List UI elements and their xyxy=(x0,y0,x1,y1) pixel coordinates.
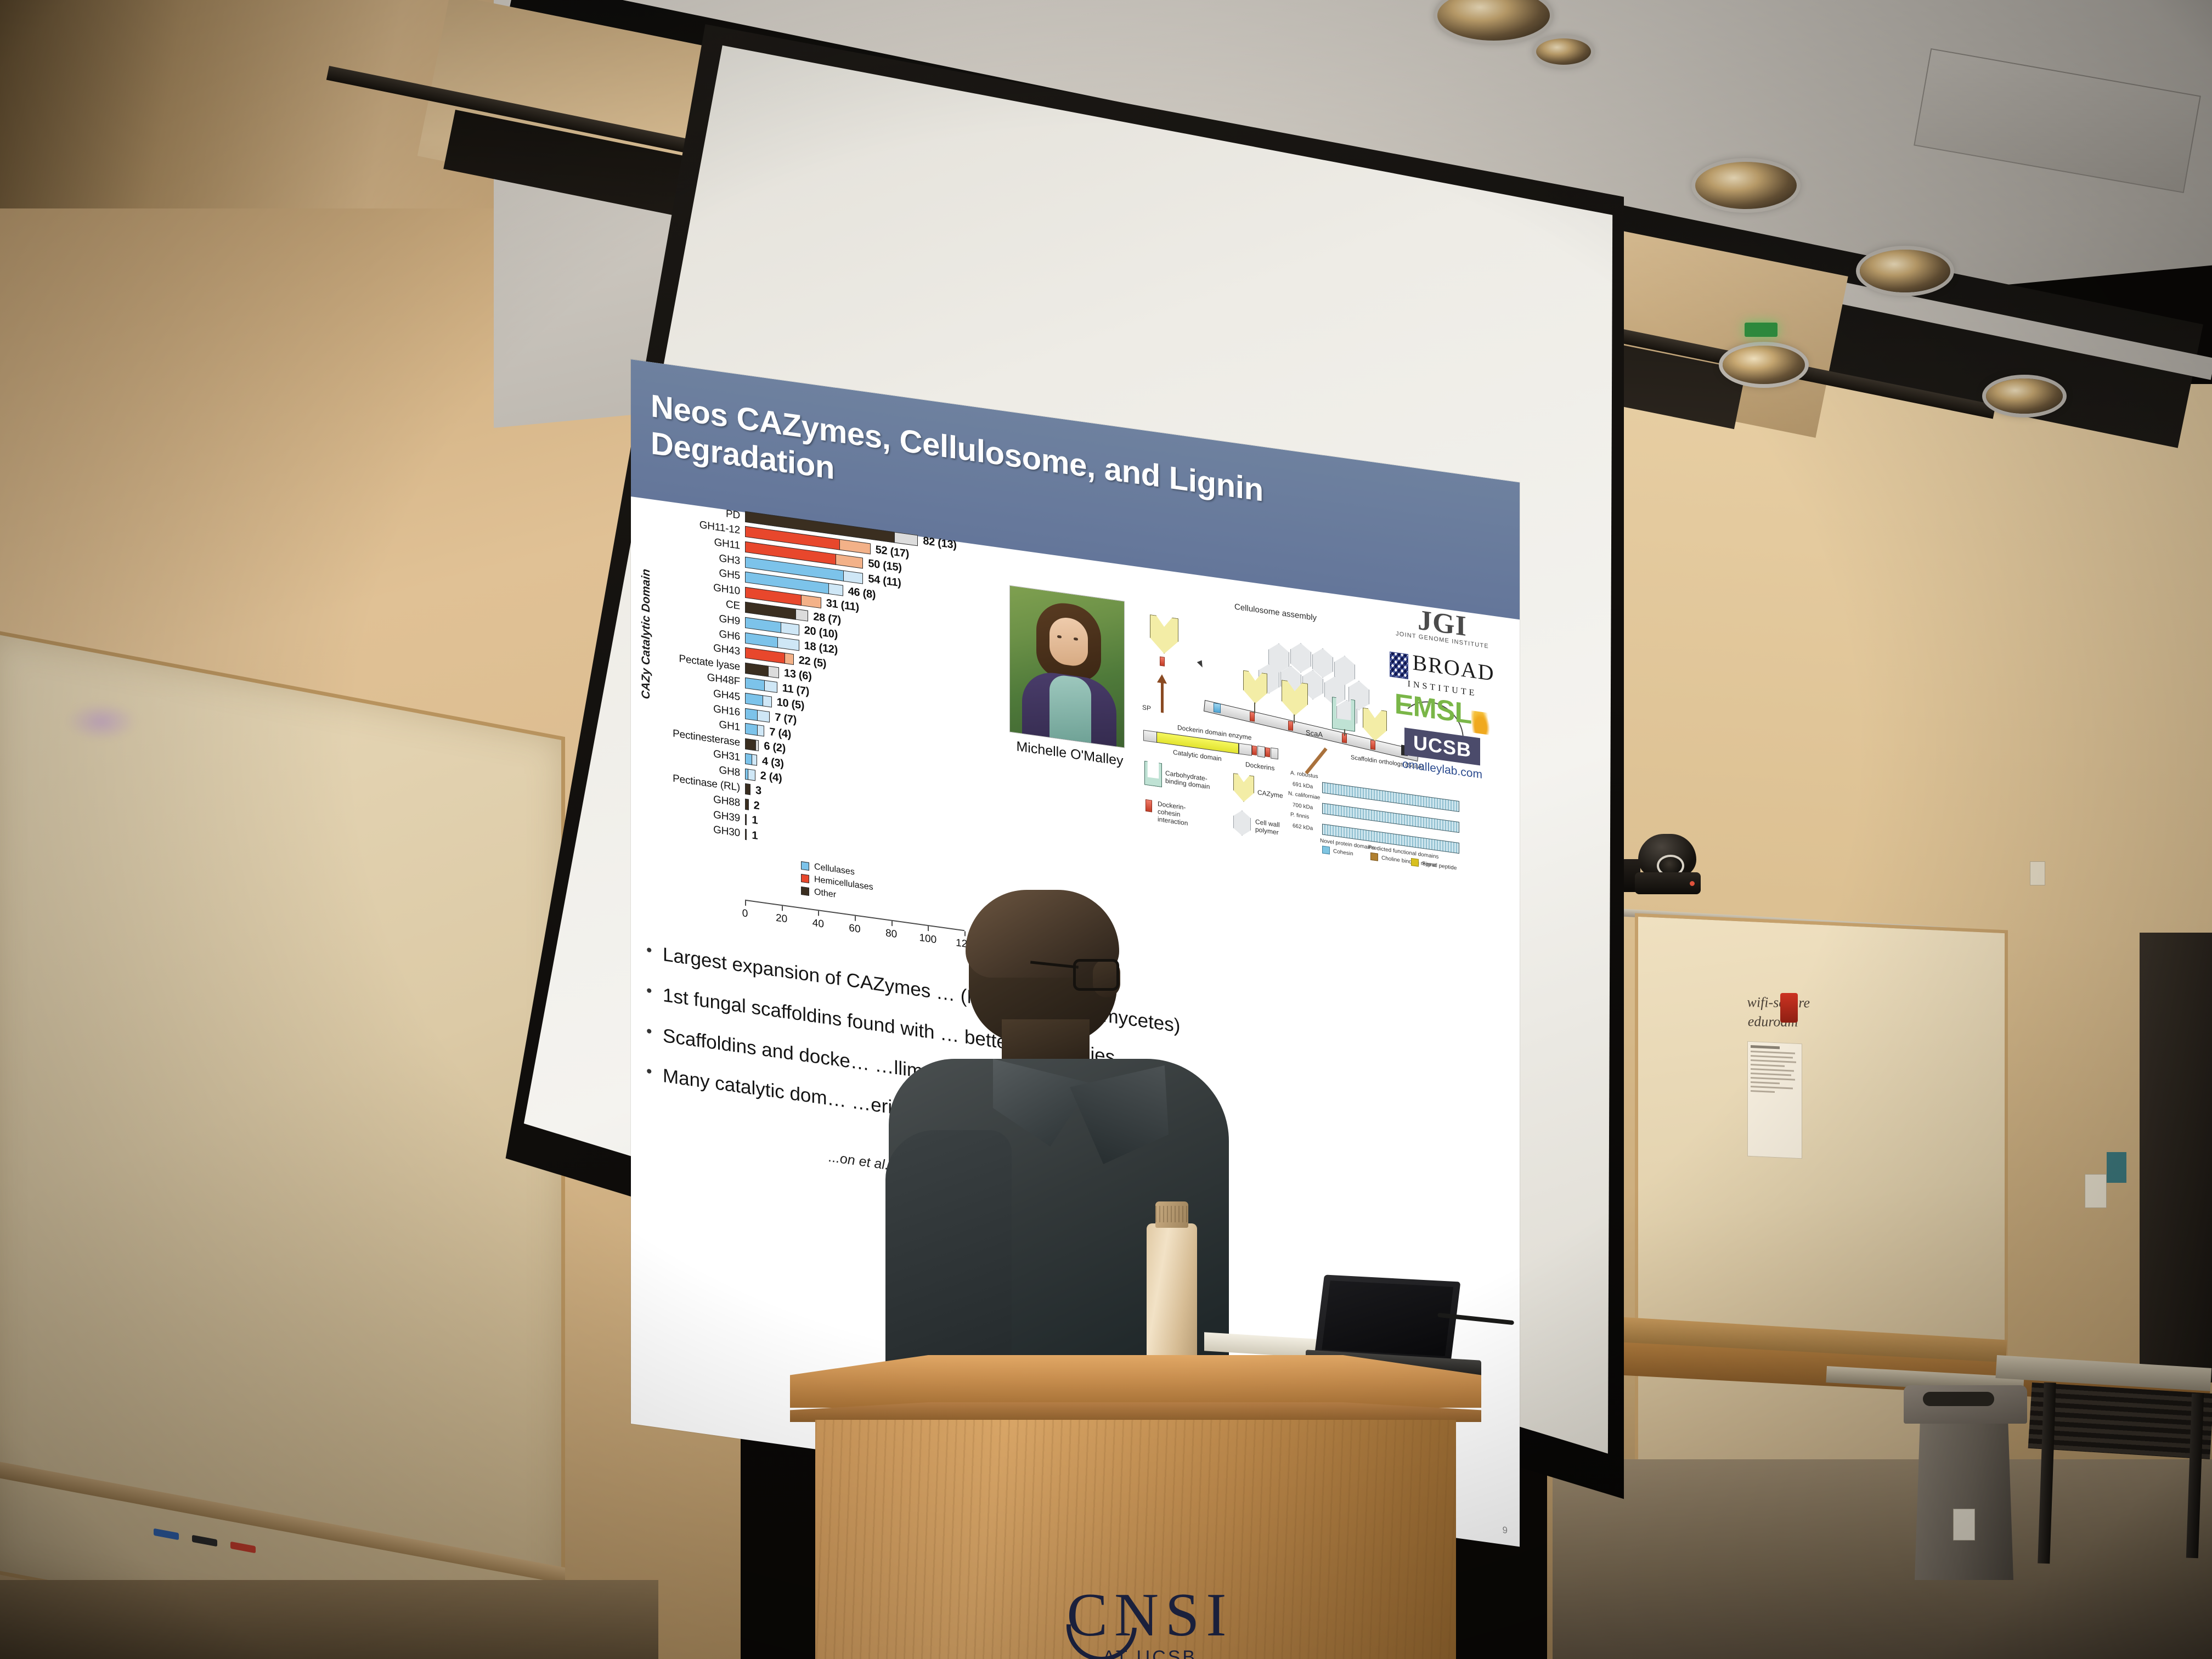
small-arrow-icon xyxy=(1197,660,1205,668)
bottle-body xyxy=(1147,1223,1197,1372)
floor-carpet xyxy=(0,1580,658,1659)
cbd-legend-label: Carbohydrate-binding domain xyxy=(1165,769,1220,792)
linker-icon xyxy=(1271,747,1278,759)
flyer-line xyxy=(1751,1051,1795,1054)
chart-bar xyxy=(745,738,759,752)
linker-icon xyxy=(1239,743,1252,755)
chart-bar xyxy=(745,693,772,708)
cohesin-legend-label: Cohesin xyxy=(1333,848,1353,857)
emsl-flame-icon xyxy=(1471,710,1490,735)
choline-swatch-icon xyxy=(1370,853,1378,861)
chart-bar-segment-secondary xyxy=(801,595,821,608)
chart-bar-segment-primary xyxy=(745,678,765,691)
chart-bar xyxy=(745,723,764,737)
cazyme-stem xyxy=(1254,702,1255,713)
chart-bar-segment-secondary xyxy=(785,653,794,665)
linker-icon xyxy=(1257,746,1265,758)
chart-x-tick xyxy=(855,916,856,921)
ceiling-downlight xyxy=(1986,379,2063,414)
upward-arrow-head-icon xyxy=(1157,674,1167,684)
chart-data-label: 7 (7) xyxy=(775,711,797,726)
trash-can-opening xyxy=(1923,1392,1994,1406)
chart-bar-segment-secondary xyxy=(755,740,759,751)
cell-wall-polymer-icon xyxy=(1233,809,1251,837)
chart-bar-segment-secondary xyxy=(828,583,843,596)
flyer-heading xyxy=(1751,1045,1780,1049)
chart-bar-segment-primary xyxy=(745,799,749,810)
wall-plate xyxy=(2030,861,2045,885)
bullet-marker: • xyxy=(646,940,663,967)
cell-wall-legend-label: Cell wall polymer xyxy=(1255,818,1288,838)
flyer-line xyxy=(1751,1073,1791,1076)
chart-bar-segment-primary xyxy=(745,723,758,736)
flyer-line xyxy=(1751,1090,1775,1093)
flyer-line xyxy=(1751,1055,1793,1059)
sp-label: SP xyxy=(1142,703,1151,712)
chart-bar-segment-secondary xyxy=(757,725,764,737)
bullet-marker: • xyxy=(646,1021,663,1047)
portrait-eye xyxy=(1057,635,1062,639)
chart-x-tick xyxy=(745,901,746,906)
cbm-stem xyxy=(1344,729,1345,736)
flyer-line xyxy=(1751,1068,1794,1072)
chart-bar-segment-primary xyxy=(745,814,747,825)
chart-legend-swatch xyxy=(801,861,809,870)
chart-bar-rows: PD82 (13)GH11-1252 (17)GH1150 (15)GH354 … xyxy=(658,497,988,876)
podium-front-panel: CNSI AT UCSB xyxy=(815,1420,1456,1659)
chart-data-label: 1 xyxy=(752,814,758,827)
chart-x-tick-label: 0 xyxy=(742,907,748,920)
chart-legend-label: Other xyxy=(814,887,836,900)
flyer-line xyxy=(1751,1077,1795,1081)
cohesin-icon xyxy=(1214,703,1221,713)
cazyme-stem xyxy=(1294,714,1295,723)
chart-data-label: 3 xyxy=(755,784,761,797)
diagram-title: Cellulosome assembly xyxy=(1234,602,1317,623)
species-mass: 662 kDa xyxy=(1293,823,1313,832)
chart-bar xyxy=(745,769,755,781)
dockerin-icon xyxy=(1370,740,1375,750)
chart-data-label: 1 xyxy=(752,829,758,842)
chart-bar-segment-secondary xyxy=(795,609,808,622)
flyer-line xyxy=(1751,1086,1793,1090)
cohesin-swatch-icon xyxy=(1322,846,1330,855)
ptz-camera xyxy=(1635,834,1701,897)
chart-bar-segment-secondary xyxy=(757,709,770,722)
projector-stray-light xyxy=(66,702,137,741)
dockerin-icon xyxy=(1265,747,1270,757)
cazyme-icon xyxy=(1233,773,1254,803)
bullet-marker: • xyxy=(646,981,663,1007)
chart-bar-segment-primary xyxy=(745,708,758,720)
chart-bar-segment-primary xyxy=(745,783,751,795)
chart-bar-segment-primary xyxy=(745,663,769,677)
chart-x-tick-label: 60 xyxy=(849,922,860,936)
speaker-portrait xyxy=(1009,585,1125,748)
species-name: A. robustus xyxy=(1290,770,1318,780)
camera-head xyxy=(1638,834,1696,877)
dockerin-icon xyxy=(1252,746,1257,755)
chart-data-label: 2 (4) xyxy=(760,770,782,785)
chart-bar-segment-secondary xyxy=(839,539,871,555)
chart-data-label: 2 xyxy=(754,799,760,812)
chart-bar-segment-primary xyxy=(745,693,763,707)
dockerin-icon xyxy=(1288,721,1293,731)
chart-bar xyxy=(745,829,747,840)
chart-bar-segment-primary xyxy=(745,738,756,751)
door-frame xyxy=(2140,933,2212,1383)
slide-number: 9 xyxy=(1503,1525,1508,1536)
chart-bar xyxy=(745,783,751,795)
species-name: P. finnis xyxy=(1290,811,1309,820)
broad-institute-mark-icon xyxy=(1390,652,1408,680)
bullet-marker: • xyxy=(646,1062,663,1088)
lectern-podium: CNSI AT UCSB xyxy=(790,1355,1481,1659)
flyer-line xyxy=(1751,1059,1796,1063)
chart-x-tick xyxy=(818,911,819,916)
chart-bar-segment-secondary xyxy=(781,622,799,636)
laptop-lid xyxy=(1314,1274,1461,1364)
chart-bar xyxy=(745,799,749,810)
chart-bar xyxy=(745,814,747,825)
podium-top-surface xyxy=(790,1355,1481,1408)
ceiling-downlight xyxy=(1860,250,1950,292)
species-name: N. californiae xyxy=(1288,791,1320,801)
ceiling-downlight xyxy=(1695,162,1797,209)
cazyme-legend-label: CAZyme xyxy=(1257,788,1283,799)
water-bottle xyxy=(1147,1201,1197,1372)
flyer-line xyxy=(1751,1081,1780,1084)
chart-bar-segment-secondary xyxy=(836,554,863,569)
exit-indicator-light xyxy=(1745,323,1778,337)
chart-bar-segment-secondary xyxy=(752,754,757,766)
chart-x-tick-label: 40 xyxy=(812,917,824,931)
ceiling-downlight xyxy=(1723,346,1805,384)
posted-flyer xyxy=(1747,1041,1802,1159)
camera-status-led xyxy=(1690,881,1695,886)
floor-carpet xyxy=(1553,1459,2212,1659)
cazyme-icon xyxy=(1150,614,1178,656)
chart-bar-segment-secondary xyxy=(894,532,918,546)
cnsi-logo: CNSI AT UCSB xyxy=(980,1584,1320,1659)
photo-scene: wifi-secure eduroam Neos CAZymes, Cel xyxy=(0,0,2212,1659)
chart-legend-swatch xyxy=(801,886,809,895)
chart-legend: CellulasesHemicellulasesOther xyxy=(801,860,873,908)
chart-bar xyxy=(745,708,770,722)
ortholog-pointer-arrow-icon xyxy=(1305,747,1327,774)
chart-data-label: 7 (4) xyxy=(769,726,791,741)
flyer-line xyxy=(1751,1064,1785,1067)
broad-institute-logo: BROAD xyxy=(1412,650,1494,686)
chart-bar-segment-secondary xyxy=(768,665,779,678)
dockerin-icon xyxy=(1160,657,1165,667)
wall-panel-teal xyxy=(2107,1152,2126,1183)
left-whiteboard xyxy=(0,629,565,1659)
chart-x-tick xyxy=(782,906,783,911)
laptop-screen[interactable] xyxy=(1322,1280,1453,1356)
chart-bar-segment-secondary xyxy=(748,769,755,781)
chart-data-label: 6 (2) xyxy=(764,740,786,755)
chart-bar-segment-secondary xyxy=(764,680,777,693)
podium-edge xyxy=(790,1402,1481,1422)
chart-bar-segment-primary xyxy=(745,829,747,840)
fire-alarm-strobe xyxy=(1780,993,1798,1023)
species-mass: 691 kDa xyxy=(1293,781,1313,790)
upward-arrow-icon xyxy=(1161,680,1164,713)
recycling-label xyxy=(1953,1509,1975,1541)
trash-can xyxy=(1915,1404,2013,1580)
chart-bar-segment-secondary xyxy=(843,570,864,584)
glasses-icon xyxy=(1073,959,1119,991)
signal-peptide-icon xyxy=(1143,730,1158,743)
chart-y-axis-title: CAZy Catalytic Domain xyxy=(640,568,653,700)
portrait-scarf xyxy=(1049,674,1091,744)
chart-legend-swatch xyxy=(801,873,809,883)
dockerin-cohesin-legend-label: Dockerin-cohesin interaction xyxy=(1158,800,1208,830)
chart-bar xyxy=(745,678,777,693)
cazyme-icon xyxy=(1243,670,1267,706)
portrait-eye xyxy=(1074,637,1078,641)
chart-bar-segment-secondary xyxy=(777,636,799,651)
scaffoldin-name-label: ScaA xyxy=(1306,728,1323,738)
sponsor-logos: JGI JOINT GENOME INSTITUTE BROAD INSTITU… xyxy=(1379,601,1505,785)
species-mass: 700 kDa xyxy=(1293,802,1313,811)
carbohydrate-binding-domain-icon xyxy=(1144,761,1162,787)
dockerins-label: Dockerins xyxy=(1245,760,1274,772)
signal-peptide-legend-label: Signal peptide xyxy=(1422,861,1457,872)
chart-x-tick-label: 20 xyxy=(776,912,787,926)
bottle-cap-ridges xyxy=(1155,1206,1188,1222)
chart-bar xyxy=(745,753,757,766)
signal-peptide-swatch-icon xyxy=(1411,858,1419,867)
chart-data-label: 4 (3) xyxy=(762,755,784,770)
chart-bar-segment-secondary xyxy=(763,695,772,707)
light-switch-plate[interactable] xyxy=(2085,1174,2107,1208)
dockerin-cohesin-icon xyxy=(1145,799,1152,812)
